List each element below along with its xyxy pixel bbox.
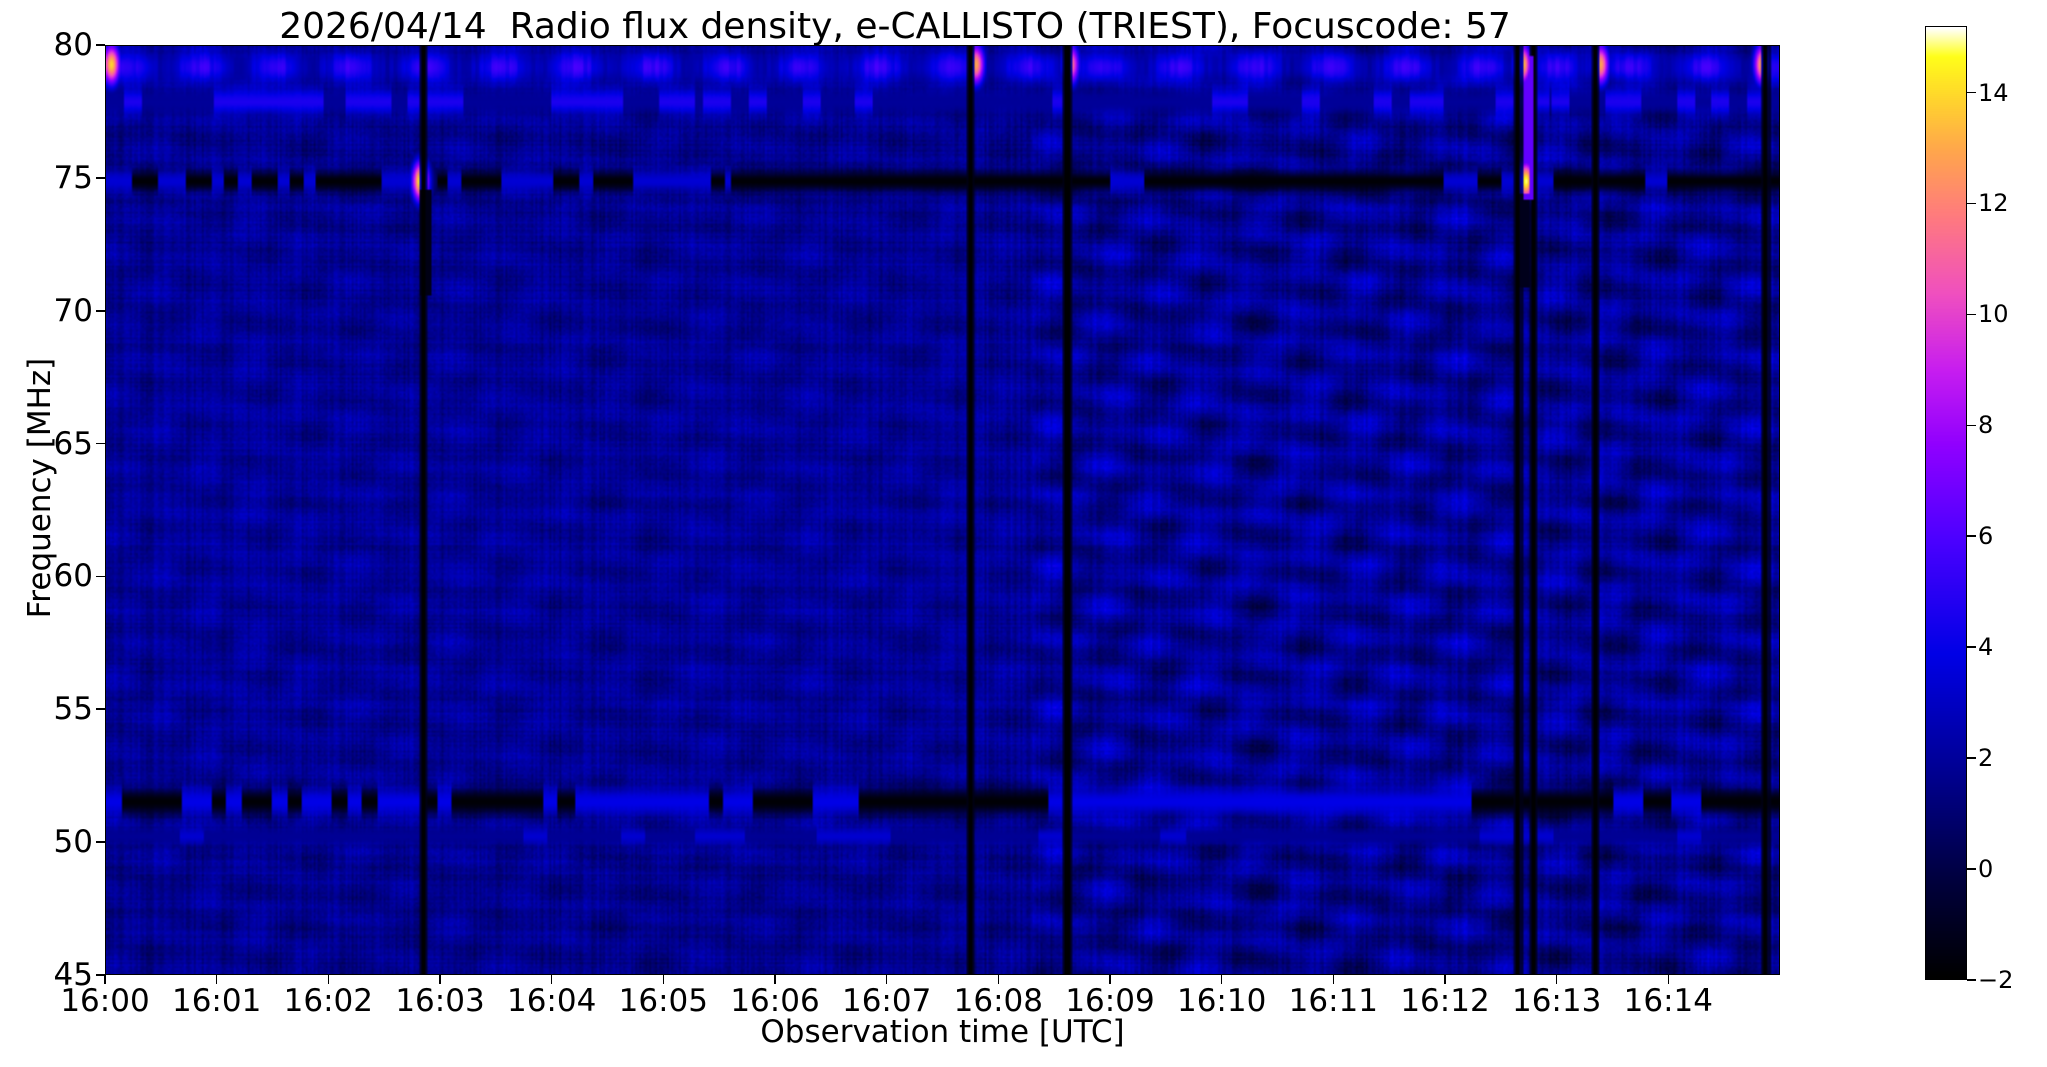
colorbar-tick-mark	[1967, 203, 1976, 205]
y-tick-mark	[96, 708, 105, 710]
figure-canvas: 2026/04/14 Radio flux density, e-CALLIST…	[0, 0, 2047, 1067]
x-tick-mark	[216, 975, 218, 984]
spectrogram-plot[interactable]	[105, 45, 1780, 975]
x-tick-label: 16:03	[395, 983, 484, 1019]
x-tick-label: 16:10	[1177, 983, 1266, 1019]
y-tick-label: 55	[37, 691, 93, 727]
x-tick-mark	[1444, 975, 1446, 984]
colorbar-tick-label: 14	[1978, 79, 2009, 107]
y-tick-mark	[96, 841, 105, 843]
colorbar-tick-mark	[1967, 92, 1976, 94]
x-tick-mark	[104, 975, 106, 984]
y-tick-mark	[96, 310, 105, 312]
colorbar-tick-mark	[1967, 314, 1976, 316]
x-tick-label: 16:12	[1400, 983, 1489, 1019]
spectrogram-image	[106, 46, 1779, 974]
x-tick-label: 16:02	[284, 983, 373, 1019]
colorbar-tick-label: 0	[1978, 855, 1993, 883]
x-tick-mark	[998, 975, 1000, 984]
colorbar-tick-label: −2	[1978, 966, 2013, 994]
colorbar-tick-mark	[1967, 757, 1976, 759]
y-tick-label: 50	[37, 824, 93, 860]
y-tick-mark	[96, 576, 105, 578]
colorbar-tick-label: 2	[1978, 744, 1993, 772]
colorbar-tick-mark	[1967, 425, 1976, 427]
x-tick-label: 16:09	[1065, 983, 1154, 1019]
colorbar-tick-label: 8	[1978, 411, 1993, 439]
colorbar-tick-mark	[1967, 979, 1976, 981]
x-tick-label: 16:11	[1289, 983, 1378, 1019]
x-tick-mark	[328, 975, 330, 984]
x-tick-mark	[774, 975, 776, 984]
y-tick-mark	[96, 443, 105, 445]
x-tick-label: 16:13	[1512, 983, 1601, 1019]
colorbar-tick-label: 6	[1978, 522, 1993, 550]
colorbar-tick-label: 10	[1978, 300, 2009, 328]
x-tick-mark	[1221, 975, 1223, 984]
colorbar-tick-mark	[1967, 868, 1976, 870]
x-tick-mark	[1109, 975, 1111, 984]
y-tick-mark	[96, 44, 105, 46]
page-title: 2026/04/14 Radio flux density, e-CALLIST…	[0, 6, 1790, 47]
x-tick-mark	[886, 975, 888, 984]
x-tick-mark	[551, 975, 553, 984]
y-tick-label: 65	[37, 426, 93, 462]
y-tick-label: 75	[37, 160, 93, 196]
colorbar-tick-mark	[1967, 535, 1976, 537]
x-tick-label: 16:08	[954, 983, 1043, 1019]
colorbar-tick-mark	[1967, 646, 1976, 648]
y-tick-mark	[96, 177, 105, 179]
y-tick-label: 70	[37, 293, 93, 329]
x-tick-label: 16:14	[1624, 983, 1713, 1019]
x-tick-label: 16:05	[619, 983, 708, 1019]
colorbar-tick-label: 12	[1978, 189, 2009, 217]
x-axis-title: Observation time [UTC]	[105, 1014, 1780, 1050]
colorbar-tick-label: 4	[1978, 633, 1993, 661]
x-tick-label: 16:01	[172, 983, 261, 1019]
x-tick-label: 16:07	[842, 983, 931, 1019]
colorbar[interactable]	[1925, 26, 1967, 980]
x-tick-label: 16:00	[60, 983, 149, 1019]
x-tick-mark	[1333, 975, 1335, 984]
x-tick-mark	[1556, 975, 1558, 984]
x-tick-mark	[439, 975, 441, 984]
y-tick-label: 60	[37, 558, 93, 594]
x-tick-mark	[663, 975, 665, 984]
x-tick-label: 16:06	[730, 983, 819, 1019]
x-tick-label: 16:04	[507, 983, 596, 1019]
x-tick-mark	[1668, 975, 1670, 984]
y-tick-label: 80	[37, 27, 93, 63]
colorbar-gradient	[1926, 27, 1966, 979]
